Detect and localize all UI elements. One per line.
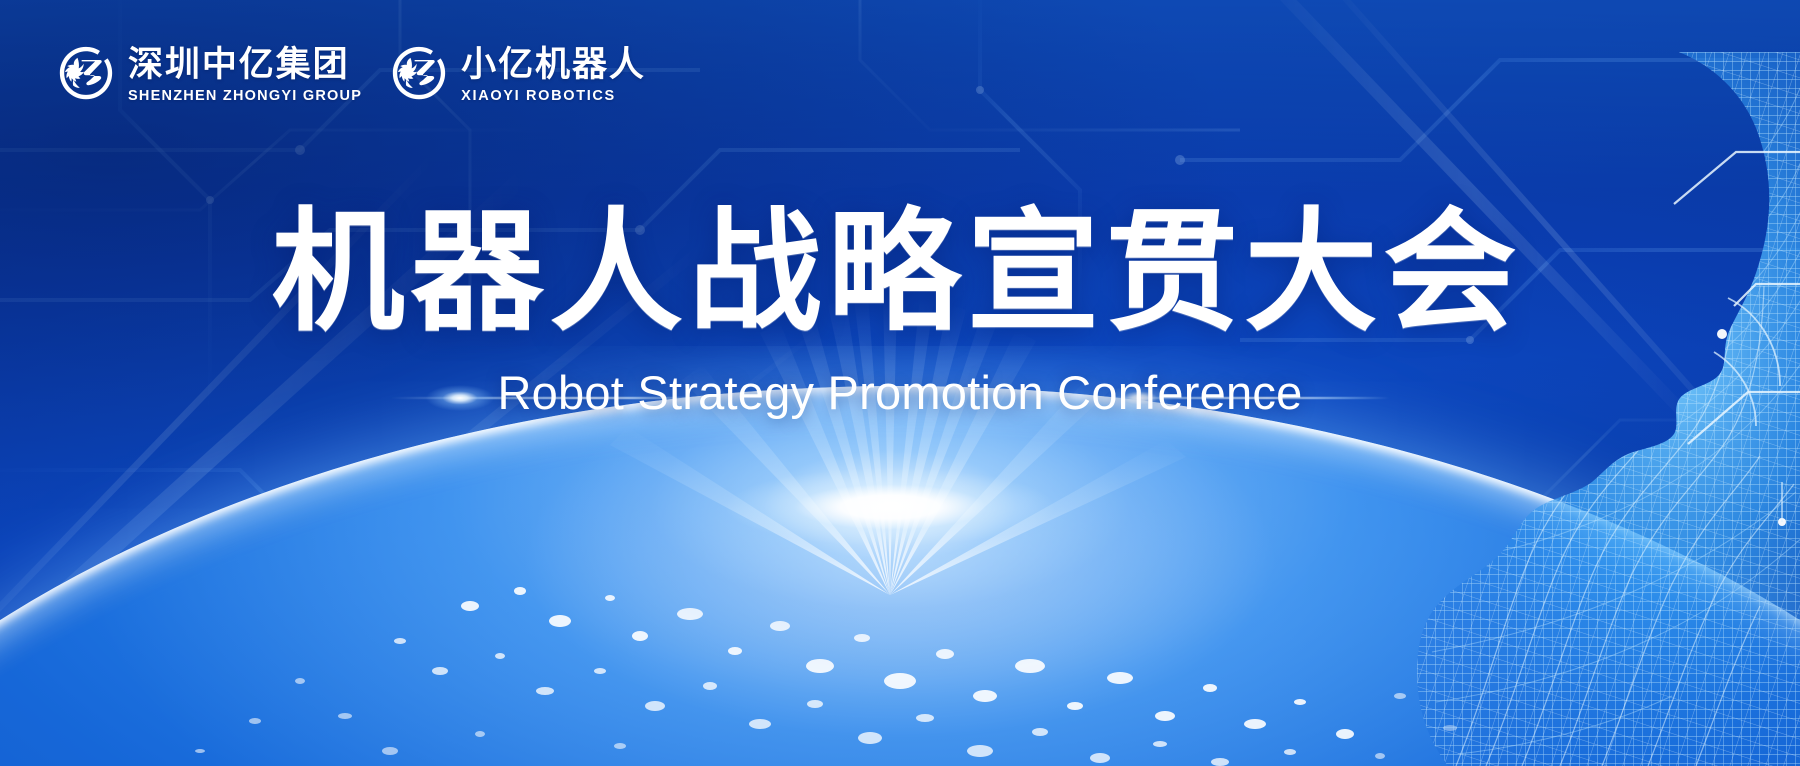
logo-xiaoyi-robotics[interactable]: 小亿机器人 XIAOYI ROBOTICS — [388, 44, 646, 106]
conference-banner: 深圳中亿集团 SHENZHEN ZHONGYI GROUP 小亿机器人 XIAO… — [0, 0, 1800, 766]
zhongyi-circular-eagle-z-emblem — [55, 44, 117, 106]
logo-zhongyi-name-en: SHENZHEN ZHONGYI GROUP — [128, 89, 362, 104]
logo-zhongyi-text: 深圳中亿集团 SHENZHEN ZHONGYI GROUP — [128, 47, 362, 104]
logo-bar: 深圳中亿集团 SHENZHEN ZHONGYI GROUP 小亿机器人 XIAO… — [55, 44, 646, 106]
logo-xiaoyi-text: 小亿机器人 XIAOYI ROBOTICS — [461, 47, 646, 104]
earth-city-lights — [0, 466, 1800, 766]
page-title: 机器人战略宣贯大会 — [0, 207, 1800, 340]
xiaoyi-circular-eagle-z-emblem — [388, 44, 450, 106]
logo-zhongyi-group[interactable]: 深圳中亿集团 SHENZHEN ZHONGYI GROUP — [55, 44, 362, 106]
logo-xiaoyi-name-en: XIAOYI ROBOTICS — [461, 89, 646, 104]
page-subtitle: Robot Strategy Promotion Conference — [0, 365, 1800, 420]
logo-xiaoyi-name-cn: 小亿机器人 — [461, 47, 646, 82]
logo-zhongyi-name-cn: 深圳中亿集团 — [128, 47, 362, 82]
